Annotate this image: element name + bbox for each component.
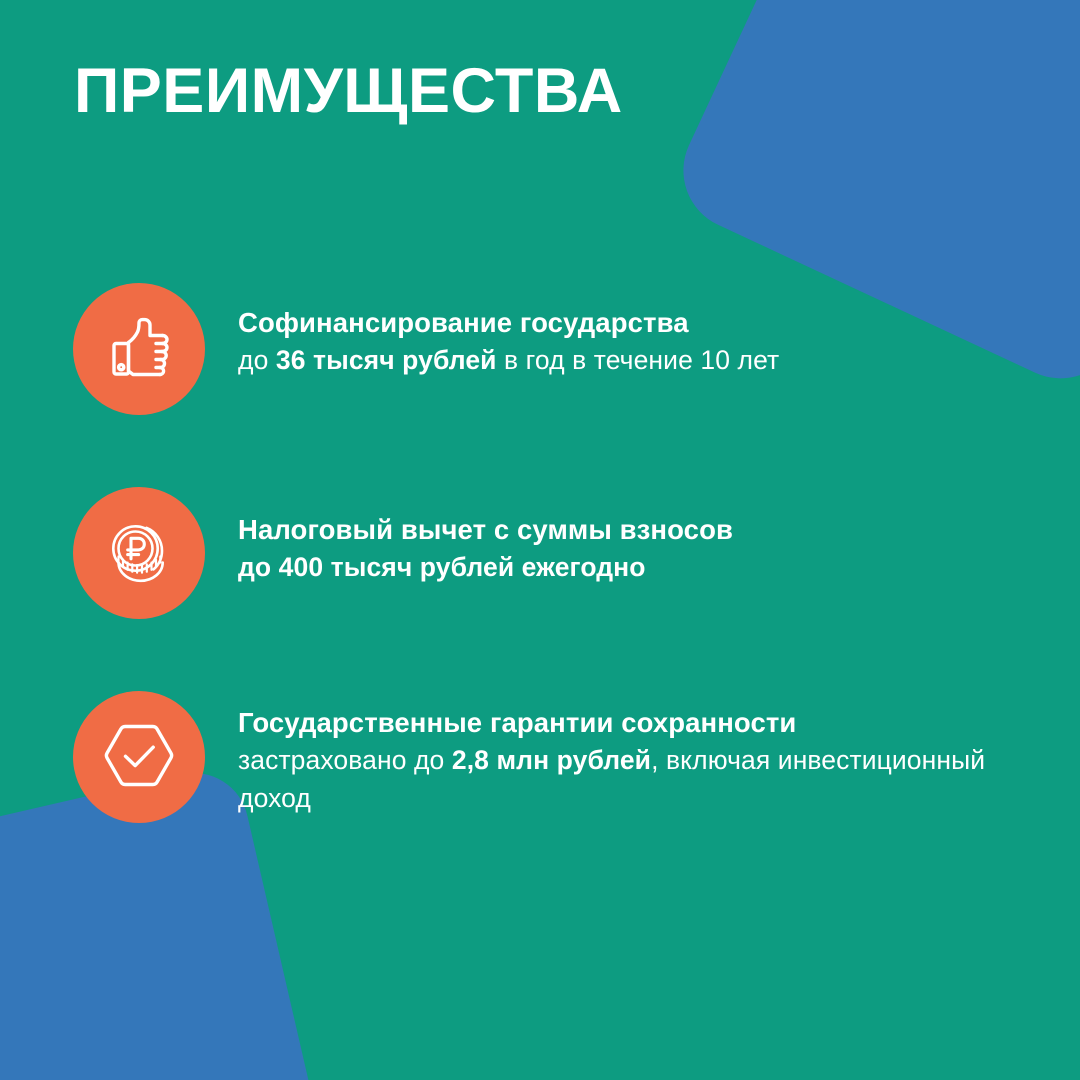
slide-canvas: ПРЕИМУЩЕСТВА	[0, 0, 1080, 1080]
feature-subtitle: застраховано до 2,8 млн рублей, включая …	[238, 742, 1000, 817]
feature-sub-prefix: до	[238, 345, 276, 375]
feature-text-block: Налоговый вычет с суммы взносов до 400 т…	[238, 487, 1000, 587]
feature-sub-prefix: застраховано до	[238, 745, 452, 775]
feature-title: Софинансирование государства	[238, 304, 1000, 342]
icon-badge-tax-deduction	[73, 487, 205, 619]
feature-sub-suffix: в год в течение 10 лет	[497, 345, 780, 375]
ruble-coin-icon	[100, 514, 178, 592]
feature-title: Государственные гарантии сохранности	[238, 704, 1000, 742]
feature-subtitle: до 400 тысяч рублей ежегодно	[238, 549, 1000, 587]
feature-item: Налоговый вычет с суммы взносов до 400 т…	[0, 487, 1000, 619]
feature-text-block: Софинансирование государства до 36 тысяч…	[238, 283, 1000, 380]
feature-sub-highlight: 36 тысяч рублей	[276, 345, 497, 375]
page-title: ПРЕИМУЩЕСТВА	[74, 58, 623, 124]
feature-subtitle: до 36 тысяч рублей в год в течение 10 ле…	[238, 342, 1000, 380]
feature-text-block: Государственные гарантии сохранности зас…	[238, 691, 1000, 817]
thumbs-up-icon	[100, 310, 178, 388]
icon-badge-state-guarantee	[73, 691, 205, 823]
feature-title: Налоговый вычет с суммы взносов	[238, 511, 1000, 549]
feature-list: Софинансирование государства до 36 тысяч…	[0, 283, 1000, 823]
icon-badge-cofinancing	[73, 283, 205, 415]
feature-sub-highlight: 2,8 млн рублей	[452, 745, 651, 775]
hexagon-check-icon	[99, 717, 179, 797]
feature-item: Софинансирование государства до 36 тысяч…	[0, 283, 1000, 415]
feature-item: Государственные гарантии сохранности зас…	[0, 691, 1000, 823]
